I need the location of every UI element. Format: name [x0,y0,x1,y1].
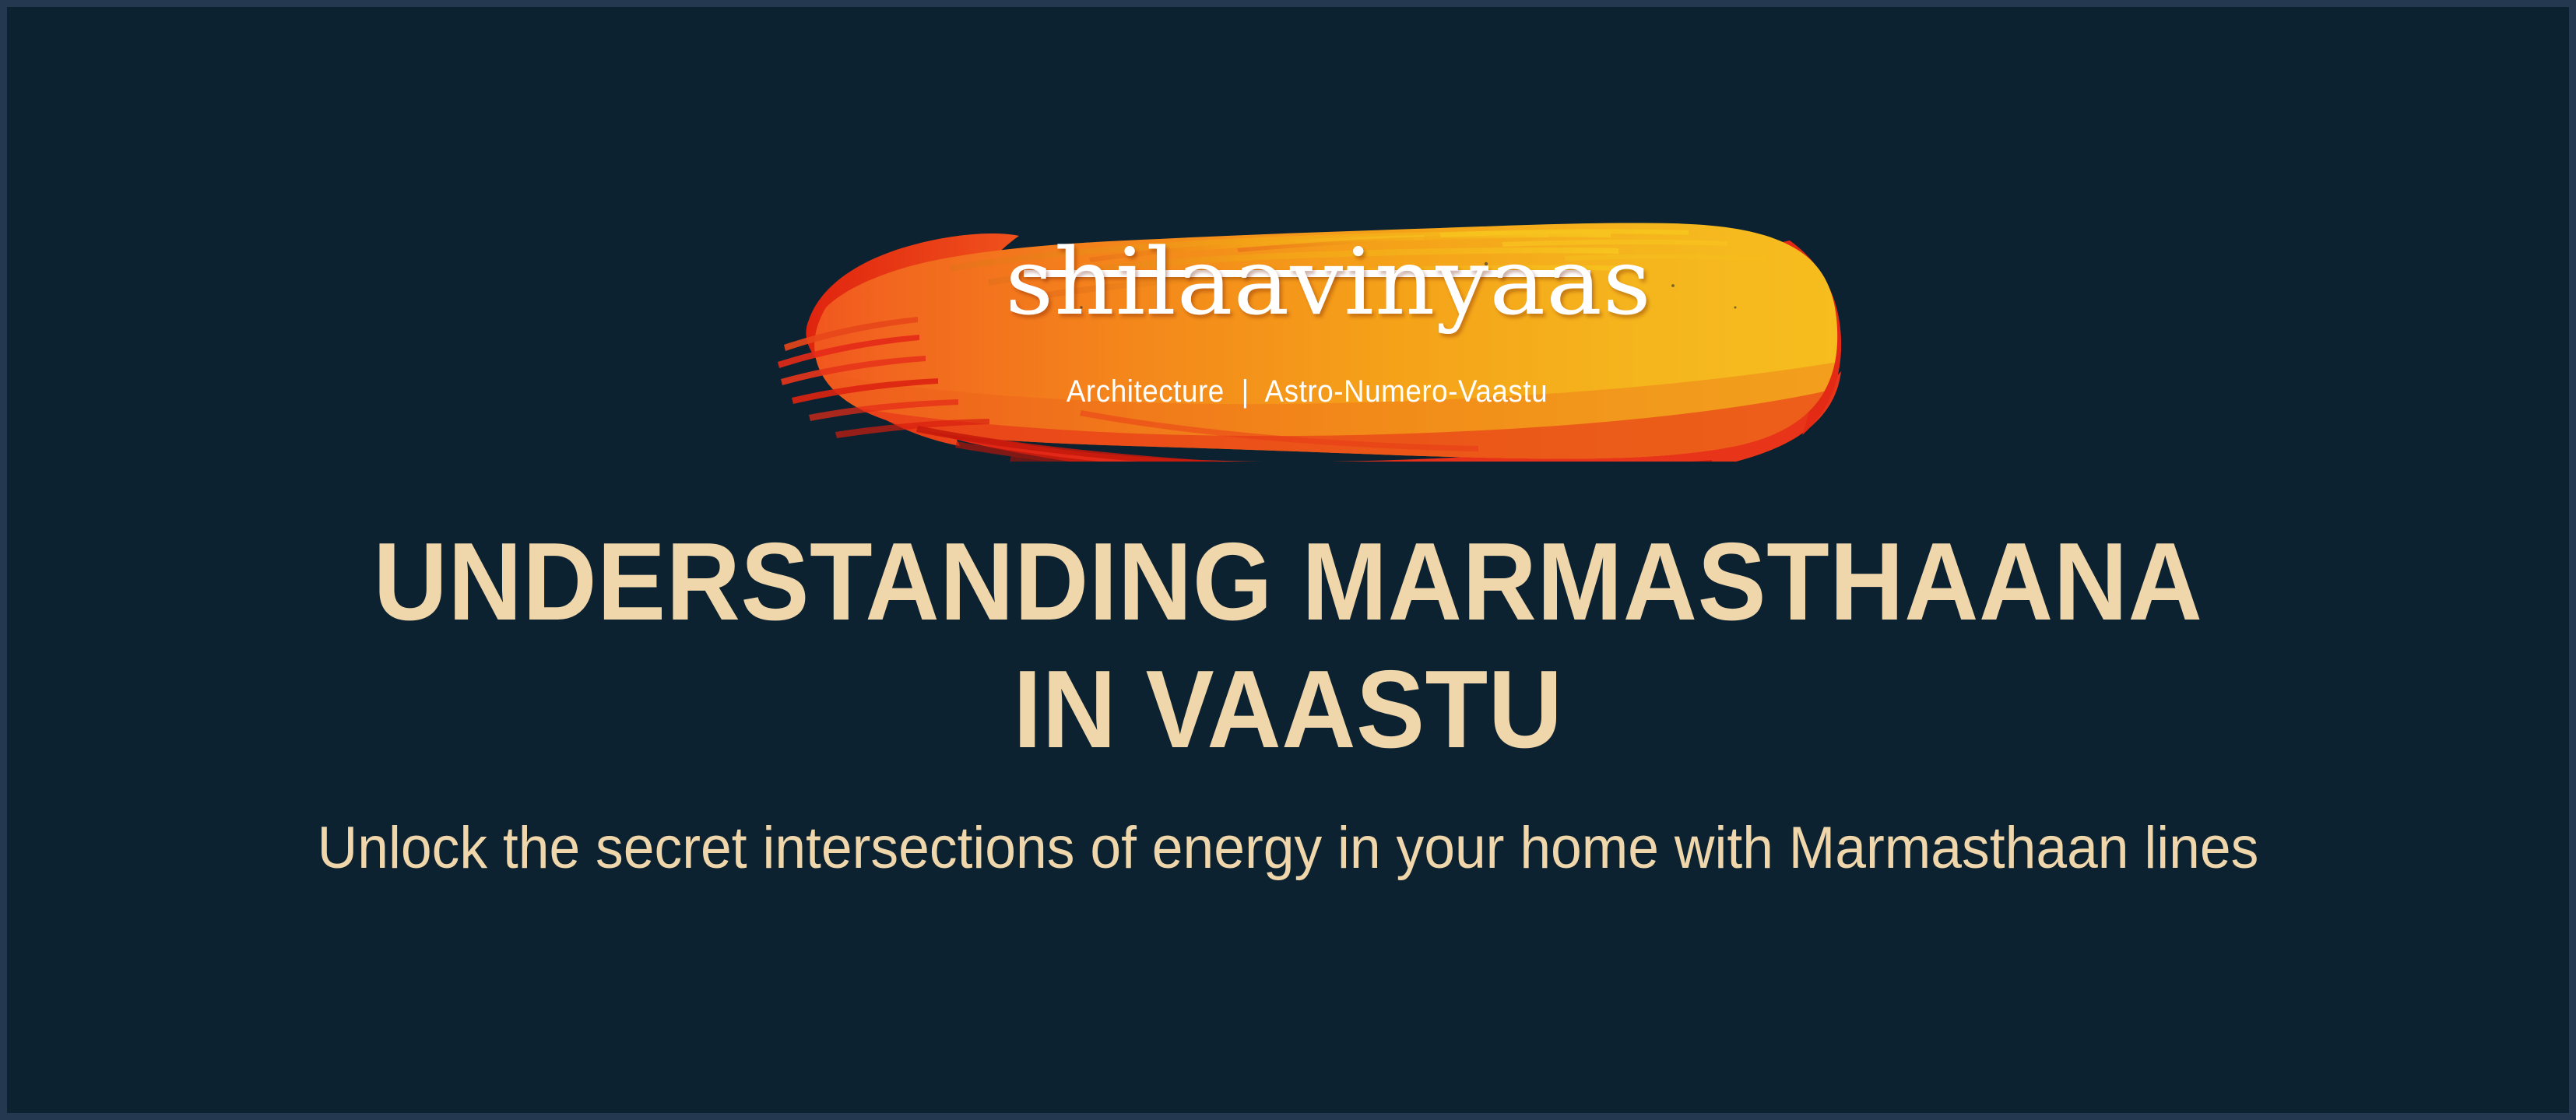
page-title-line-1: UNDERSTANDING MARMASTHAANA [97,527,2479,637]
page-title-line-2: IN VAASTU [97,655,2479,765]
brush-body [754,188,1860,462]
logo-badge: shilaavinyaas Architecture | Astro-Numer… [754,141,1860,462]
page-title: UNDERSTANDING MARMASTHAANA IN VAASTU [7,527,2569,765]
page-subtitle: Unlock the secret intersections of energ… [84,815,2493,881]
brush-stroke-graphic [754,141,1860,462]
slide-canvas: shilaavinyaas Architecture | Astro-Numer… [0,0,2576,1120]
